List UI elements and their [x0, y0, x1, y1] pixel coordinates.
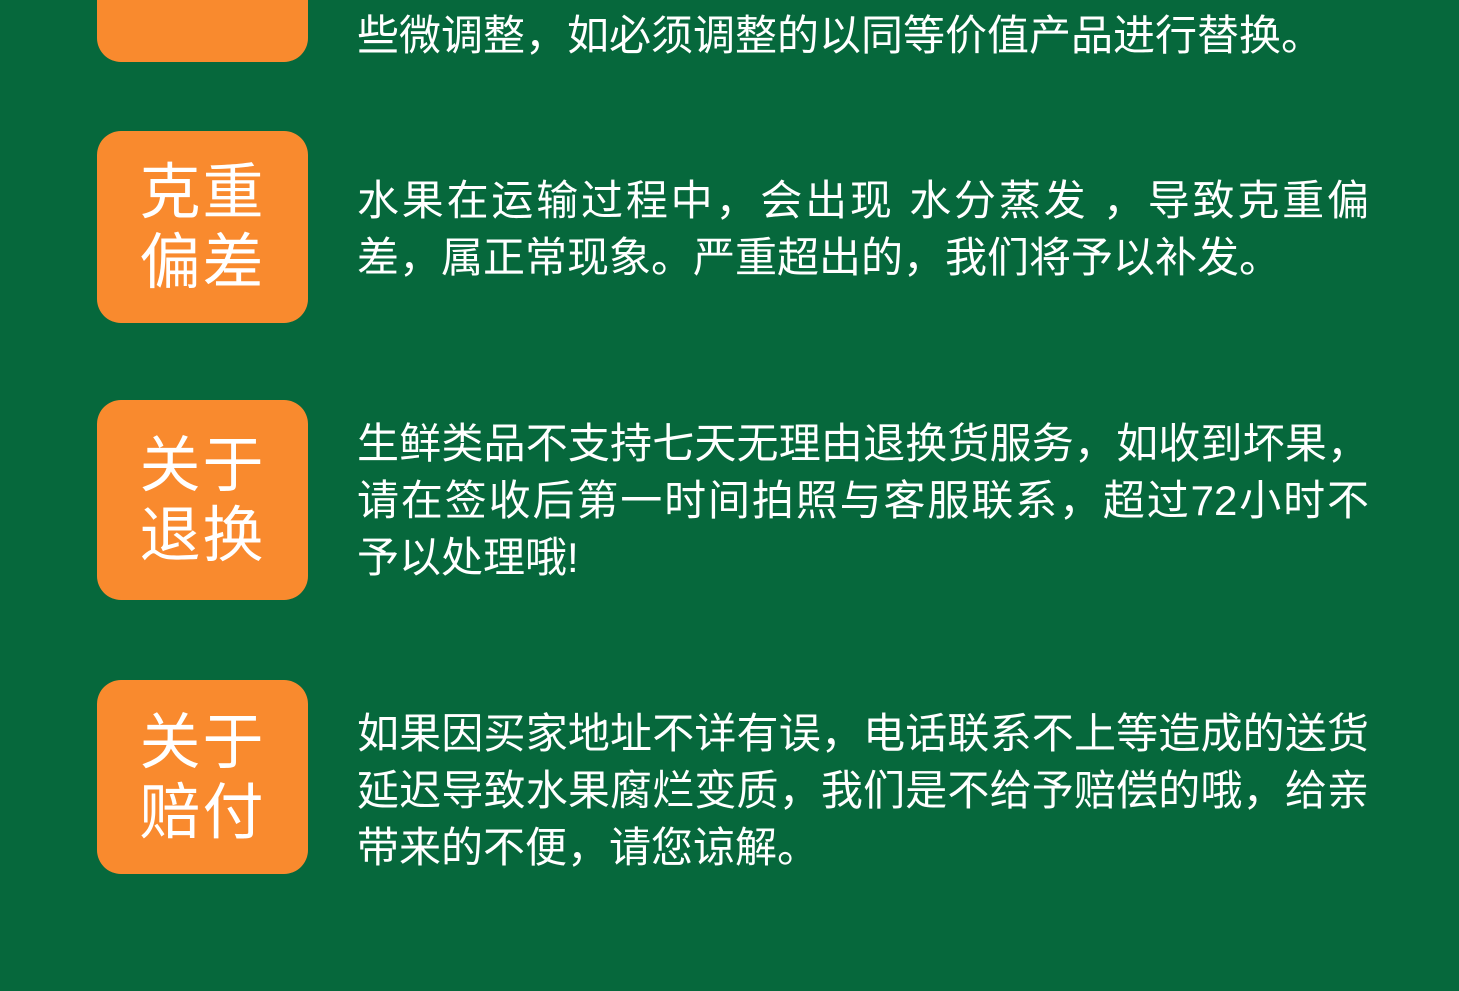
badge-returns: 关于 退换	[97, 400, 308, 600]
badge-compensation-line-1: 关于	[139, 707, 265, 777]
badge-tip-line-1: 提示	[139, 0, 265, 1]
policy-section-tip: 提示 些微调整，如必须调整的以同等价值产品进行替换。	[0, 0, 1459, 125]
policy-text-weight-deviation: 水果在运输过程中，会出现 水分蒸发 ，导致克重偏差，属正常现象。严重超出的，我们…	[357, 172, 1369, 286]
badge-weight-deviation-line-1: 克重	[139, 157, 265, 227]
badge-compensation-line-2: 赔付	[139, 777, 265, 847]
policy-text-compensation: 如果因买家地址不详有误，电话联系不上等造成的送货延迟导致水果腐烂变质，我们是不给…	[357, 705, 1369, 876]
badge-weight-deviation-line-2: 偏差	[139, 227, 265, 297]
policy-section-returns: 关于 退换 生鲜类品不支持七天无理由退换货服务，如收到坏果，请在签收后第一时间拍…	[0, 395, 1459, 680]
badge-weight-deviation: 克重 偏差	[97, 131, 308, 323]
policy-text-tip: 些微调整，如必须调整的以同等价值产品进行替换。	[357, 7, 1369, 64]
badge-compensation: 关于 赔付	[97, 680, 308, 874]
badge-tip: 提示	[97, 0, 308, 62]
policy-section-weight-deviation: 克重 偏差 水果在运输过程中，会出现 水分蒸发 ，导致克重偏差，属正常现象。严重…	[0, 125, 1459, 395]
badge-returns-line-2: 退换	[139, 500, 265, 570]
page-root: 提示 些微调整，如必须调整的以同等价值产品进行替换。 克重 偏差 水果在运输过程…	[0, 0, 1459, 991]
policy-text-returns: 生鲜类品不支持七天无理由退换货服务，如收到坏果，请在签收后第一时间拍照与客服联系…	[357, 415, 1369, 586]
badge-returns-line-1: 关于	[139, 430, 265, 500]
policy-section-compensation: 关于 赔付 如果因买家地址不详有误，电话联系不上等造成的送货延迟导致水果腐烂变质…	[0, 660, 1459, 991]
